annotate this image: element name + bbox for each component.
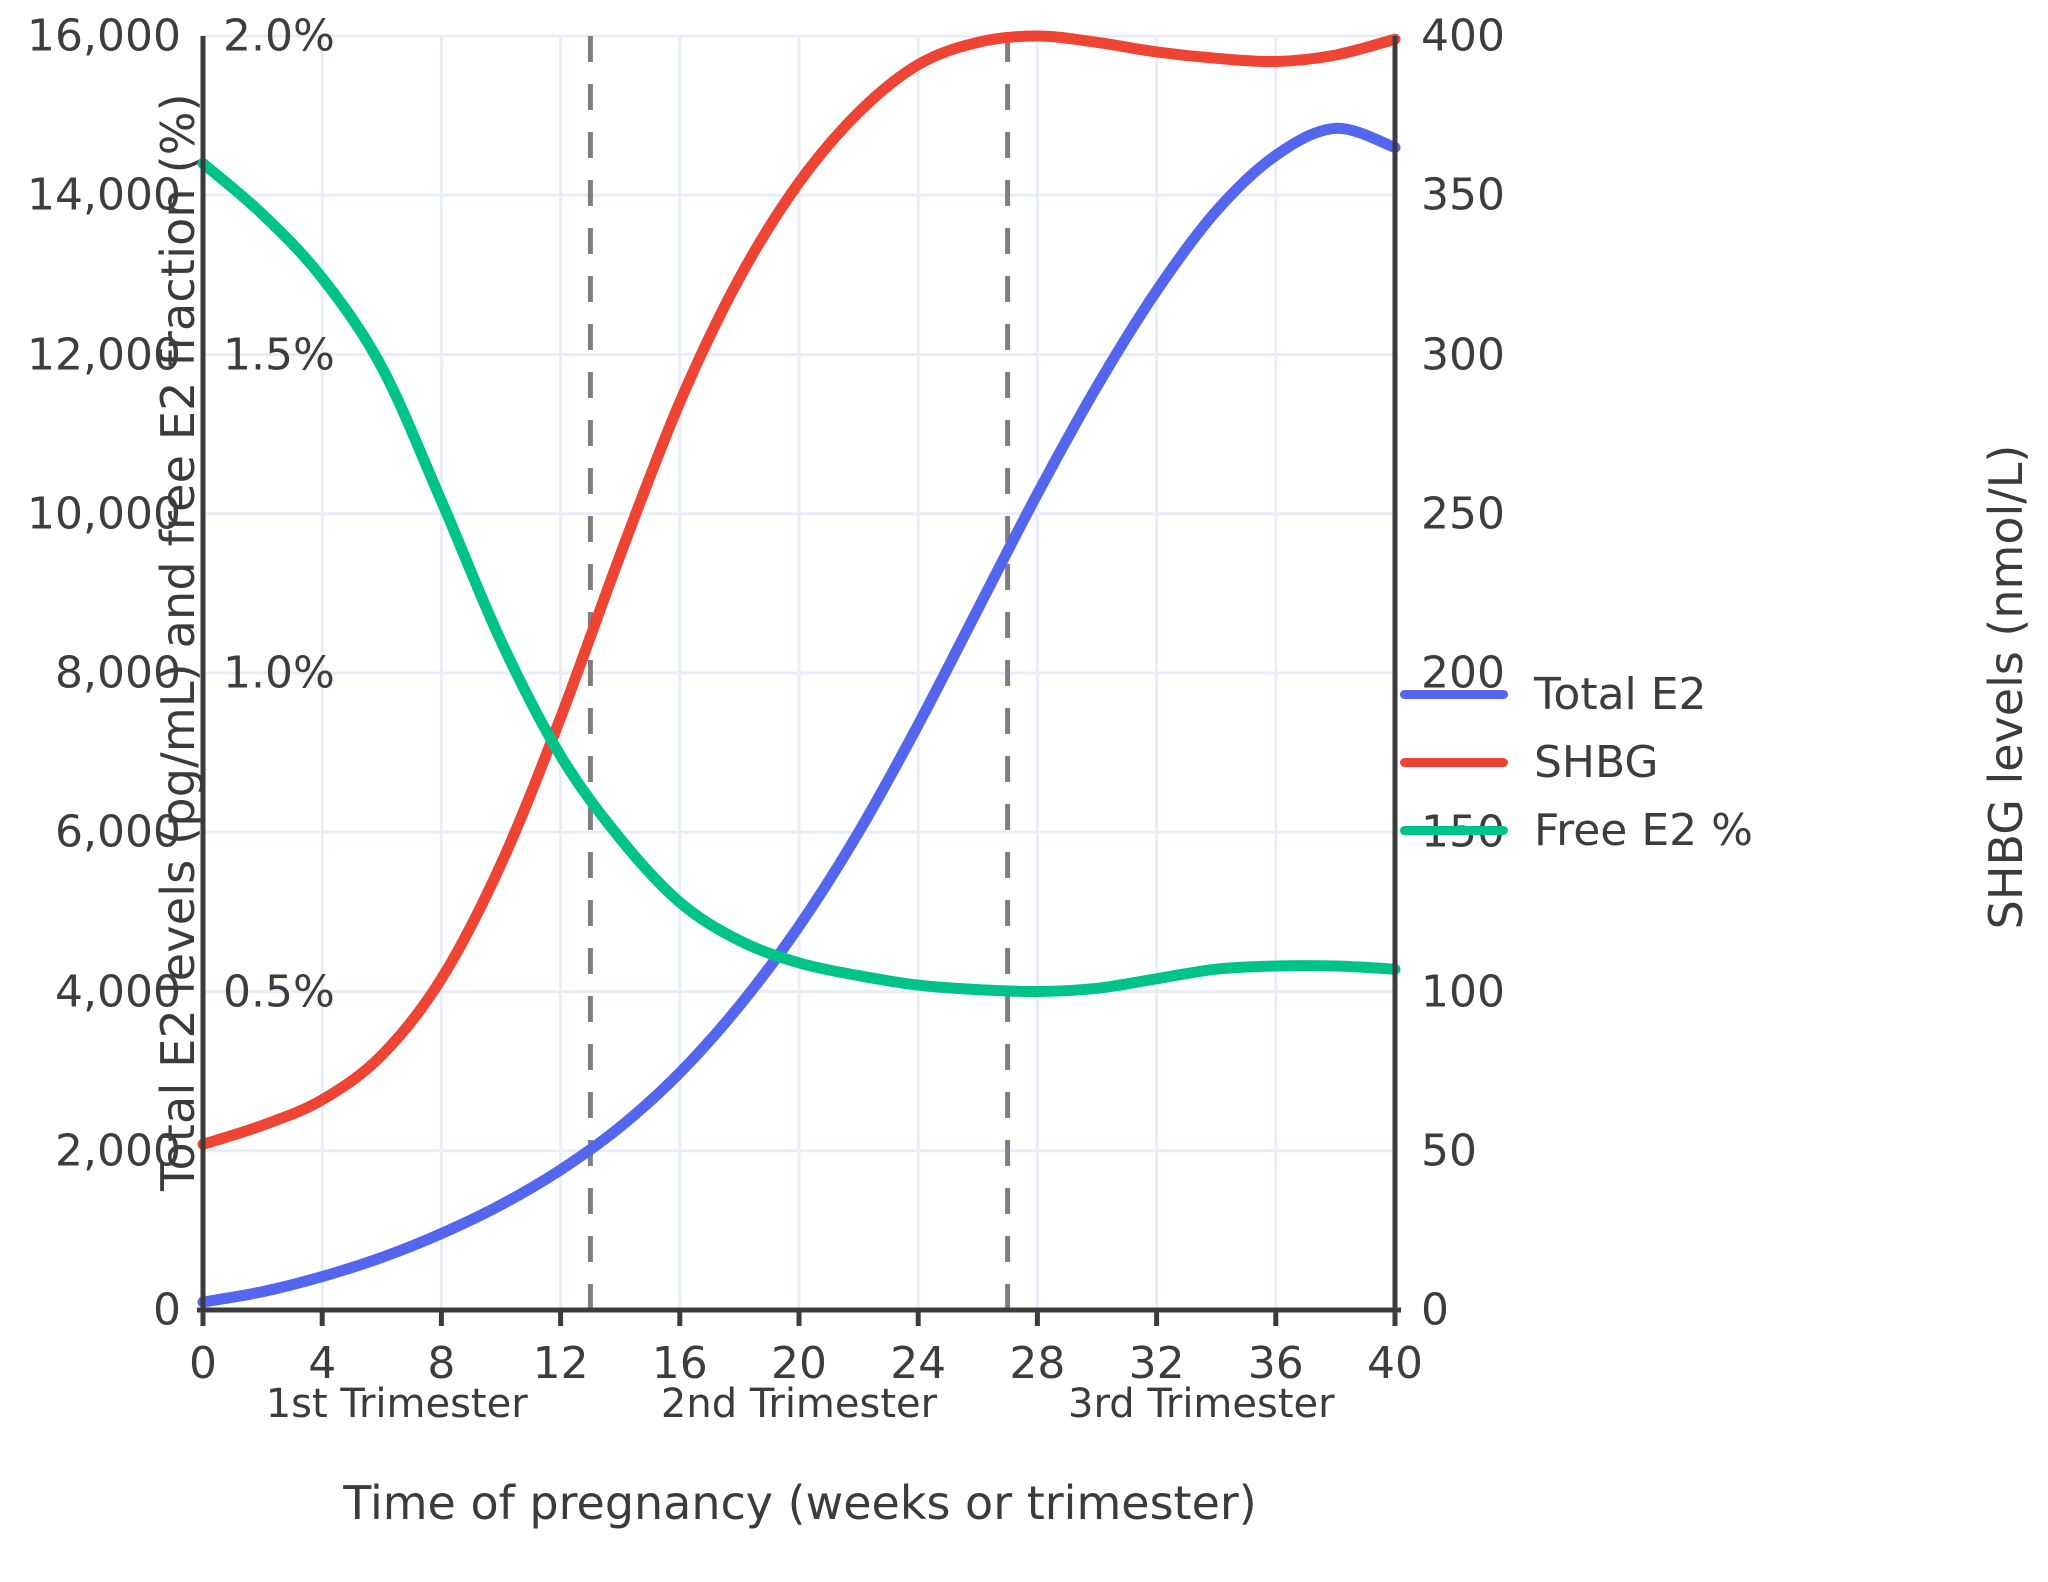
trimester-label: 2nd Trimester <box>661 1381 937 1427</box>
y-axis-left-tick-label: 6,000 <box>55 807 181 858</box>
x-axis-tick-label: 0 <box>189 1338 217 1389</box>
y-axis-right-tick-label: 0 <box>1421 1285 1449 1336</box>
y-axis-right-tick-label: 100 <box>1421 966 1505 1017</box>
free-e2-percent-tick-label: 1.5% <box>223 329 335 380</box>
legend-item[interactable]: Total E2 <box>1400 660 1753 728</box>
legend-color-swatch <box>1400 758 1508 767</box>
legend-label: Total E2 <box>1534 669 1707 720</box>
y-axis-left-tick-label: 10,000 <box>27 488 181 539</box>
x-axis-tick-label: 28 <box>1009 1338 1065 1389</box>
legend-item[interactable]: SHBG <box>1400 728 1753 796</box>
y-axis-right-tick-label: 400 <box>1421 11 1505 62</box>
free-e2-percent-tick-label: 1.0% <box>223 648 335 699</box>
y-axis-right-tick-label: 250 <box>1421 488 1505 539</box>
legend-color-swatch <box>1400 690 1508 699</box>
y-axis-right-tick-label: 350 <box>1421 170 1505 221</box>
legend-label: SHBG <box>1534 737 1659 788</box>
legend-item[interactable]: Free E2 % <box>1400 796 1753 864</box>
trimester-label: 1st Trimester <box>266 1381 528 1427</box>
y-axis-left-tick-label: 0 <box>153 1285 181 1336</box>
trimester-label: 3rd Trimester <box>1068 1381 1335 1427</box>
y-axis-left-tick-label: 8,000 <box>55 648 181 699</box>
legend-label: Free E2 % <box>1534 805 1753 856</box>
legend-color-swatch <box>1400 826 1508 835</box>
free-e2-percent-tick-label: 0.5% <box>223 966 335 1017</box>
y-axis-left-tick-label: 4,000 <box>55 966 181 1017</box>
x-axis-tick-label: 40 <box>1367 1338 1423 1389</box>
y-axis-left-tick-label: 12,000 <box>27 329 181 380</box>
free-e2-percent-tick-label: 2.0% <box>223 11 335 62</box>
chart-figure: Total E2 levels (pg/mL) and free E2 frac… <box>0 0 2048 1582</box>
y-axis-left-tick-label: 16,000 <box>27 11 181 62</box>
y-axis-right-tick-label: 300 <box>1421 329 1505 380</box>
x-axis-tick-label: 12 <box>533 1338 589 1389</box>
y-axis-right-tick-label: 50 <box>1421 1125 1477 1176</box>
chart-legend: Total E2SHBGFree E2 % <box>1400 660 1753 864</box>
y-axis-left-tick-label: 14,000 <box>27 170 181 221</box>
y-axis-left-tick-label: 2,000 <box>55 1125 181 1176</box>
